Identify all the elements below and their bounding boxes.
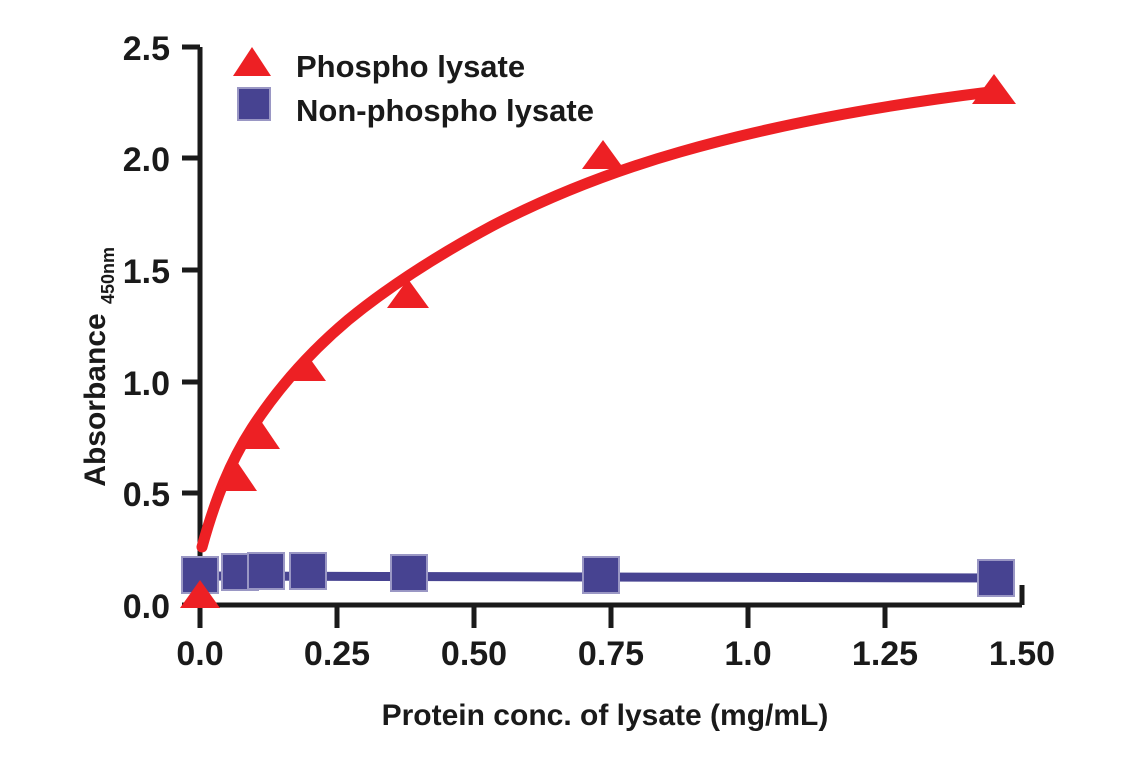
- y-tick-label-0-5: 0.5: [123, 476, 170, 514]
- y-tick-label-1-0: 1.0: [123, 365, 170, 403]
- x-axis-title: Protein conc. of lysate (mg/mL): [382, 699, 829, 732]
- legend-entry-phospho[interactable]: Phospho lysate: [233, 47, 525, 84]
- y-axis-title: Absorbance: [79, 313, 112, 486]
- legend-entry-non-phospho[interactable]: Non-phospho lysate: [238, 88, 594, 128]
- y-tick-label-0-0: 0.0: [123, 588, 170, 626]
- x-tick-label-0-75: 0.75: [578, 635, 644, 673]
- chart-figure: 2.5 2.0 1.5 1.0 0.5 0.0 0.0 0.25 0.50 0.…: [0, 0, 1141, 768]
- data-point-marker: [978, 560, 1014, 596]
- series-phospho-lysate: [180, 74, 1016, 608]
- x-tick-label-1-0: 1.0: [724, 635, 771, 673]
- data-point-marker: [583, 557, 619, 593]
- legend-triangle-icon: [233, 47, 271, 76]
- legend-label-phospho: Phospho lysate: [296, 49, 525, 84]
- chart-legend: Phospho lysate Non-phospho lysate: [233, 47, 594, 128]
- y-tick-labels: 2.5 2.0 1.5 1.0 0.5 0.0: [123, 30, 170, 626]
- series-non-phospho-lysate: [182, 553, 1014, 596]
- y-tick-label-2-5: 2.5: [123, 30, 170, 68]
- x-tick-label-1-50: 1.50: [989, 635, 1055, 673]
- y-tick-label-2-0: 2.0: [123, 141, 170, 179]
- legend-label-non-phospho: Non-phospho lysate: [296, 93, 594, 128]
- data-point-marker: [582, 140, 624, 169]
- y-axis-title-subscript: 450nm: [98, 247, 118, 304]
- axis-group: [182, 47, 1022, 628]
- data-point-marker: [248, 553, 284, 589]
- x-tick-labels: 0.0 0.25 0.50 0.75 1.0 1.25 1.50: [176, 635, 1055, 673]
- x-tick-label-0-50: 0.50: [441, 635, 507, 673]
- absorbance-scatter-plot: 2.5 2.0 1.5 1.0 0.5 0.0 0.0 0.25 0.50 0.…: [0, 0, 1141, 768]
- y-axis-title-group: Absorbance 450nm: [79, 247, 118, 487]
- data-point-marker: [290, 553, 326, 589]
- x-tick-label-0-25: 0.25: [304, 635, 370, 673]
- x-axis-title-group: Protein conc. of lysate (mg/mL): [382, 699, 829, 732]
- x-tick-label-0-0: 0.0: [176, 635, 223, 673]
- y-tick-label-1-5: 1.5: [123, 253, 170, 291]
- data-point-marker: [391, 555, 427, 591]
- x-tick-label-1-25: 1.25: [852, 635, 918, 673]
- legend-square-icon: [238, 88, 270, 120]
